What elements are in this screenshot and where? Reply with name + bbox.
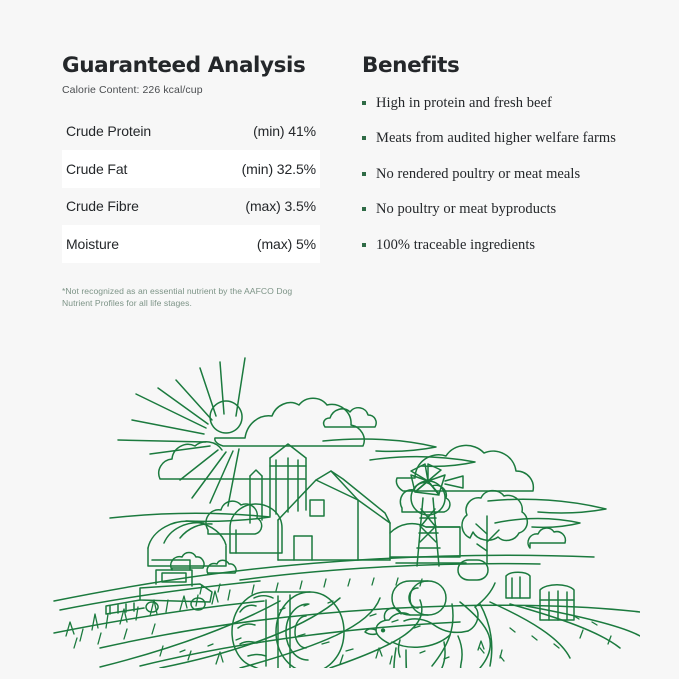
table-row: Crude Fibre (max) 3.5% <box>62 188 320 226</box>
bullet-icon <box>362 136 366 140</box>
calorie-content-text: Calorie Content: 226 kcal/cup <box>62 84 320 96</box>
benefits-section: Benefits High in protein and fresh beef … <box>362 54 622 271</box>
benefit-text: High in protein and fresh beef <box>376 94 552 114</box>
benefit-text: Meats from audited higher welfare farms <box>376 129 616 149</box>
benefits-title: Benefits <box>362 54 622 78</box>
nutrient-name: Crude Fat <box>66 161 127 177</box>
benefits-list: High in protein and fresh beef Meats fro… <box>362 94 622 256</box>
farm-illustration <box>40 348 640 668</box>
table-row: Crude Protein (min) 41% <box>62 113 320 151</box>
benefit-text: No rendered poultry or meat meals <box>376 165 580 185</box>
table-row: Crude Fat (min) 32.5% <box>62 150 320 188</box>
product-info-page: Guaranteed Analysis Calorie Content: 226… <box>0 0 679 679</box>
list-item: Meats from audited higher welfare farms <box>362 129 622 149</box>
benefit-text: No poultry or meat byproducts <box>376 200 556 220</box>
silo-icon <box>250 444 306 523</box>
field-horizon <box>54 555 594 610</box>
dog-icon <box>365 583 495 668</box>
guaranteed-analysis-title: Guaranteed Analysis <box>62 54 320 78</box>
nutrient-value: (min) 32.5% <box>242 161 316 177</box>
info-columns: Guaranteed Analysis Calorie Content: 226… <box>0 0 679 350</box>
farm-landscape-line-drawing <box>40 348 640 668</box>
bullet-icon <box>362 172 366 176</box>
list-item: No rendered poultry or meat meals <box>362 165 622 185</box>
list-item: No poultry or meat byproducts <box>362 200 622 220</box>
nutrient-value: (min) 41% <box>253 123 316 139</box>
grass-strokes <box>66 578 597 661</box>
bullet-icon <box>362 101 366 105</box>
list-item: High in protein and fresh beef <box>362 94 622 114</box>
nutrient-value: (max) 3.5% <box>245 198 316 214</box>
nutrient-name: Crude Fibre <box>66 198 139 214</box>
nutrient-name: Moisture <box>66 236 119 252</box>
guaranteed-analysis-table: Crude Protein (min) 41% Crude Fat (min) … <box>62 113 320 263</box>
hoop-barn-icon <box>148 521 226 570</box>
windmill-icon <box>411 464 463 566</box>
list-item: 100% traceable ingredients <box>362 236 622 256</box>
benefit-text: 100% traceable ingredients <box>376 236 535 256</box>
table-row: Moisture (max) 5% <box>62 225 320 263</box>
bullet-icon <box>362 207 366 211</box>
bullet-icon <box>362 243 366 247</box>
nutrient-name: Crude Protein <box>66 123 151 139</box>
guaranteed-analysis-section: Guaranteed Analysis Calorie Content: 226… <box>62 54 320 310</box>
nutrient-value: (max) 5% <box>257 236 316 252</box>
analysis-footnote: *Not recognized as an essential nutrient… <box>62 285 302 310</box>
sun-icon <box>118 358 245 506</box>
